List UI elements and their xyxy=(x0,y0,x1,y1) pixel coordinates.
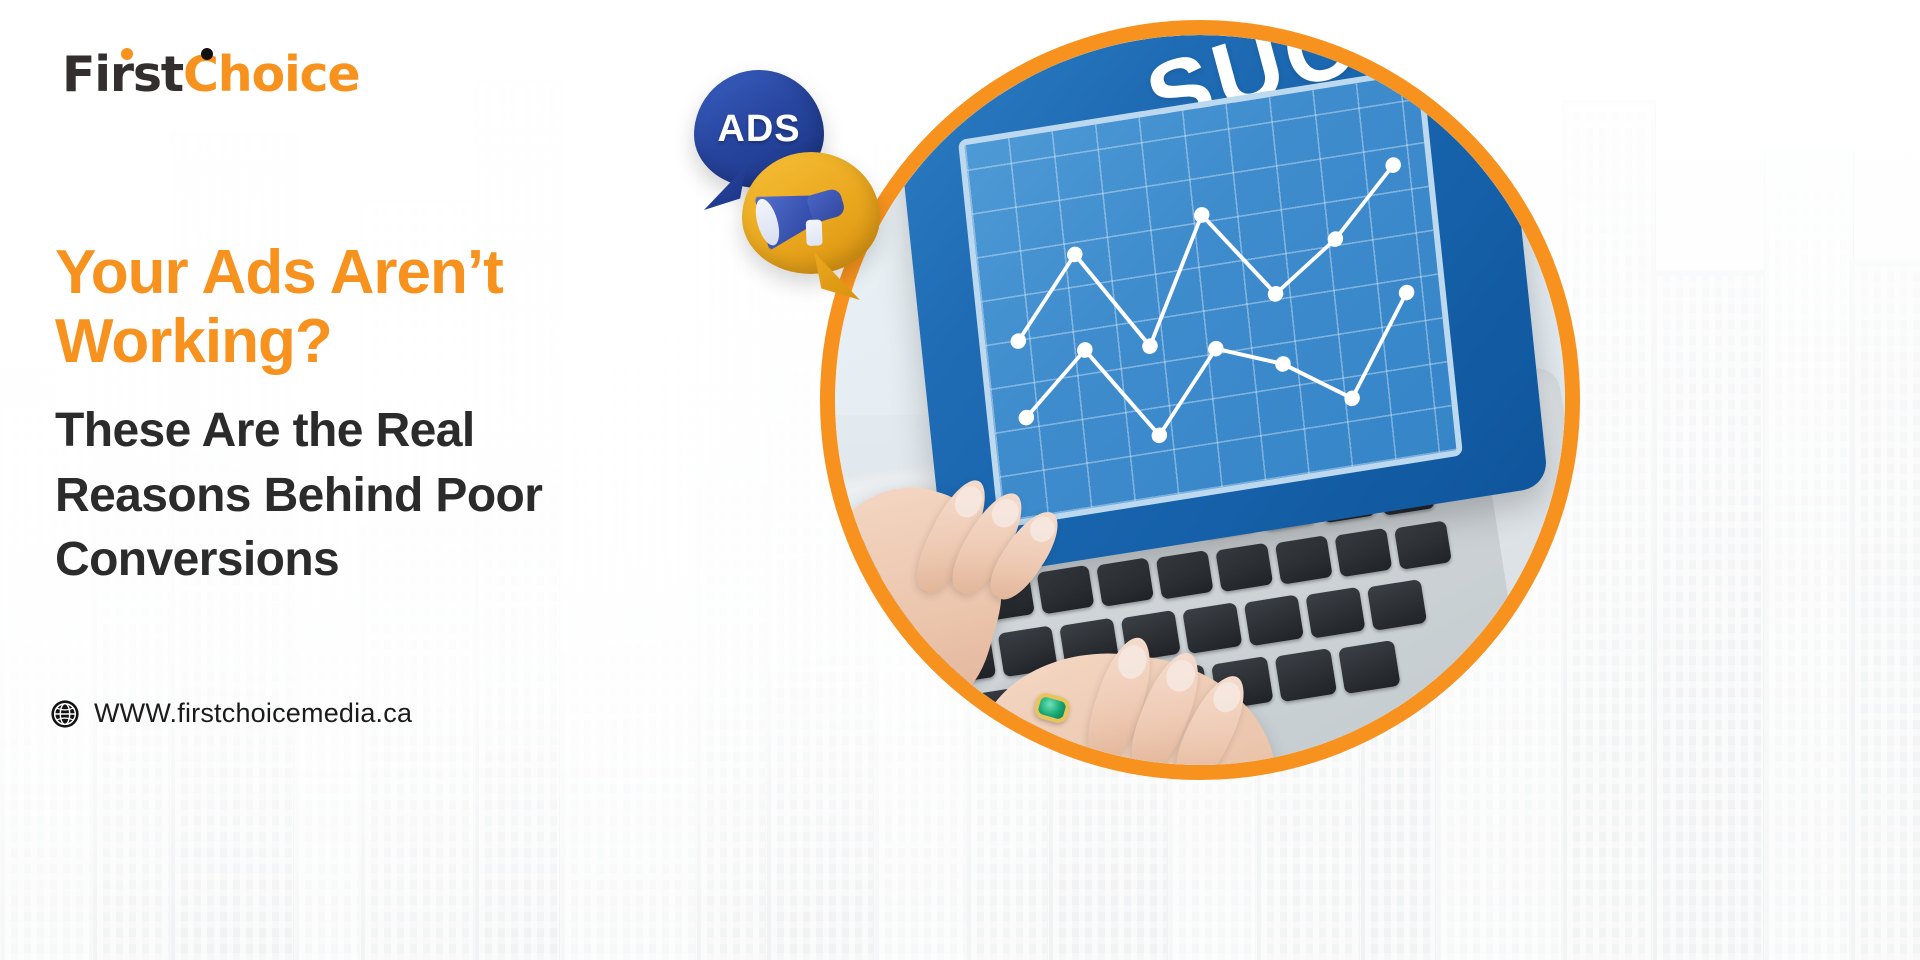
headline-dark-line-1: These Are the Real xyxy=(55,399,695,464)
hero-image-circle: SUCCESS xyxy=(820,20,1580,780)
megaphone-icon xyxy=(752,164,867,259)
laptop-photo: SUCCESS xyxy=(835,35,1565,765)
ads-bubble-label: ADS xyxy=(717,108,800,151)
orange-ring-border: SUCCESS xyxy=(820,20,1580,780)
headline-accent-line-2: Working? xyxy=(55,307,695,376)
logo-dot-orange xyxy=(121,48,133,60)
laptop-screen xyxy=(958,67,1463,529)
marketing-banner: FirstChoice Your Ads Aren’t Working? The… xyxy=(0,0,1920,960)
megaphone-speech-bubble xyxy=(742,152,880,274)
headline-block: Your Ads Aren’t Working? These Are the R… xyxy=(55,238,695,593)
website-url-bar[interactable]: WWW.firstchoicemedia.ca xyxy=(50,698,412,729)
website-url-text: WWW.firstchoicemedia.ca xyxy=(94,698,412,729)
headline-accent-line-1: Your Ads Aren’t xyxy=(55,238,695,307)
screen-line-chart xyxy=(964,74,1456,522)
headline-dark-line-2: Reasons Behind Poor xyxy=(55,464,695,529)
laptop-lid: SUCCESS xyxy=(887,35,1548,582)
logo-dot-black xyxy=(201,48,213,60)
globe-icon xyxy=(50,699,80,729)
brand-logo[interactable]: FirstChoice xyxy=(48,44,373,107)
headline-dark-line-3: Conversions xyxy=(55,528,695,593)
